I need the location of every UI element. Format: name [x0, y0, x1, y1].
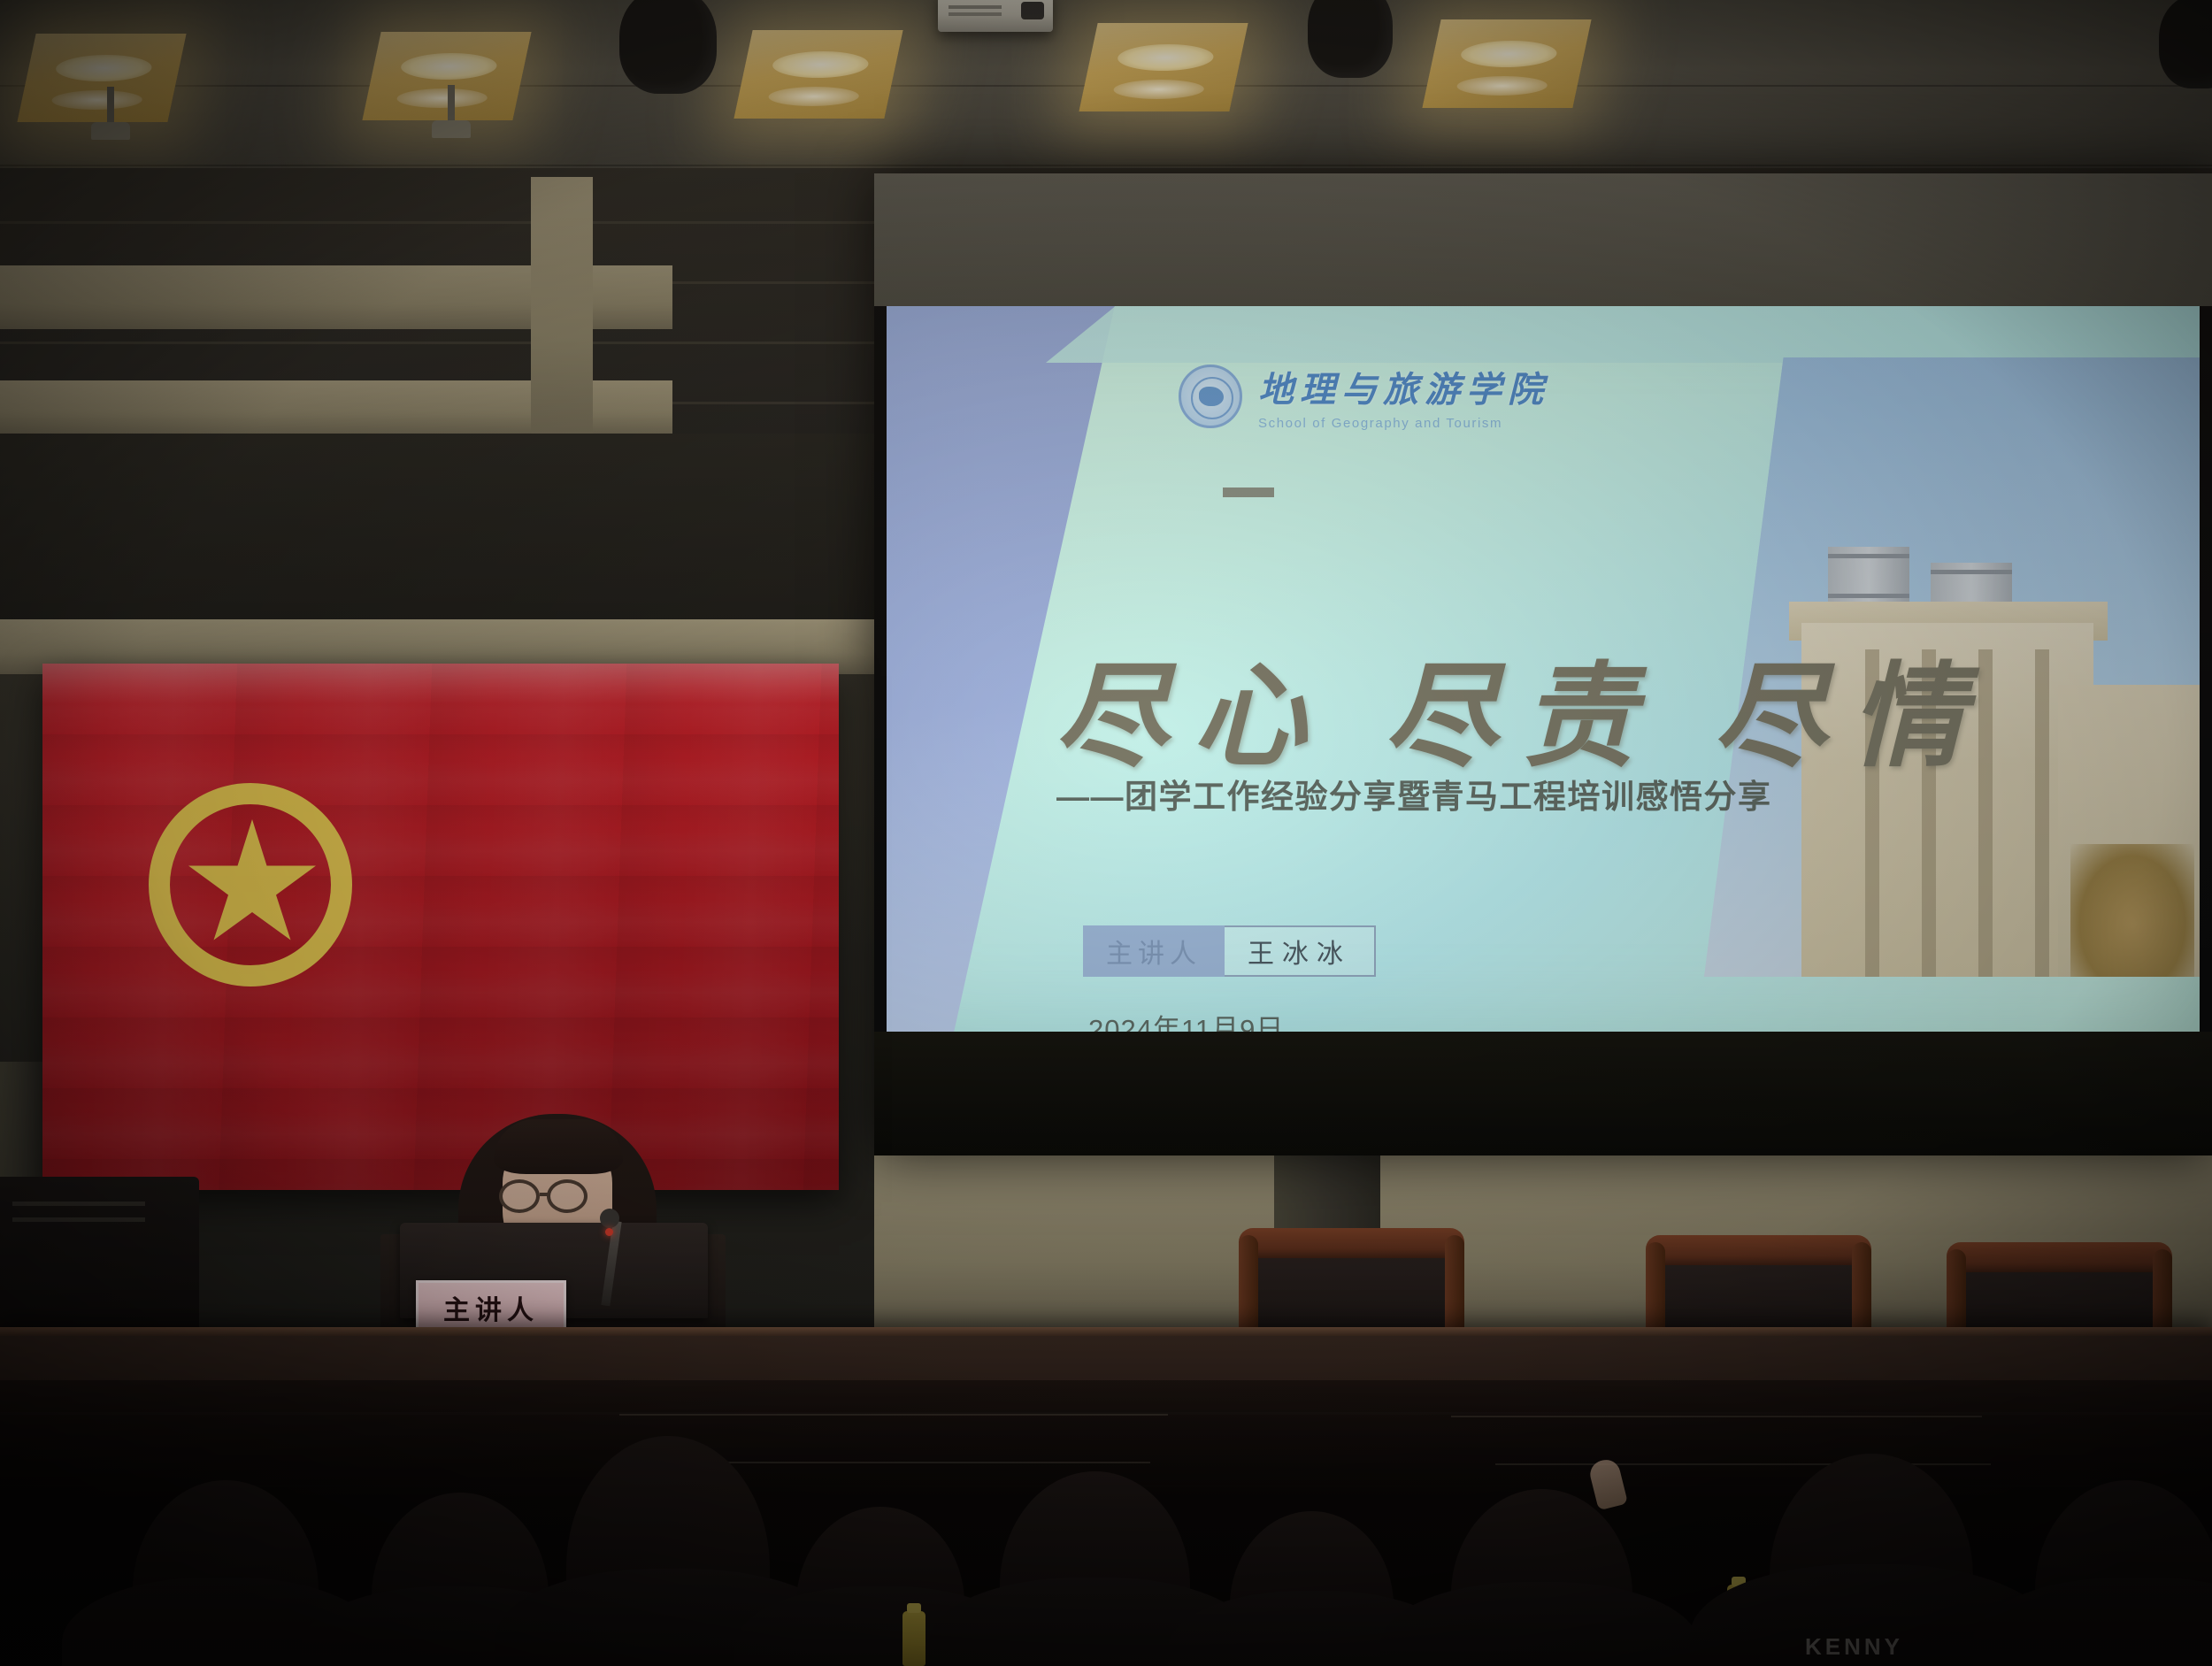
- track-spotlight-icon: [2159, 0, 2212, 88]
- slide-dash-accent: [1223, 488, 1274, 497]
- projector-icon: [938, 0, 1053, 32]
- microphone-led-icon: [605, 1228, 613, 1236]
- recessed-ceiling-light: [1422, 19, 1591, 108]
- audience-shoulders: [1380, 1582, 1699, 1666]
- track-spotlight-icon: [619, 0, 717, 94]
- logo-chinese-name: 地理与旅游学院: [1258, 361, 1549, 412]
- lecture-hall-screenshot: 地理与旅游学院 School of Geography and Tourism …: [0, 0, 2212, 1666]
- wall-beige-pillar: [531, 177, 593, 442]
- recessed-ceiling-light: [362, 32, 531, 120]
- glasses-icon: [499, 1179, 540, 1213]
- school-logo: 地理与旅游学院 School of Geography and Tourism: [1179, 361, 1549, 431]
- globe-seal-icon: [1179, 365, 1242, 428]
- glasses-icon: [547, 1179, 588, 1213]
- ceiling-panel-line: [0, 165, 2212, 166]
- microphone-head-icon: [600, 1209, 619, 1228]
- nameplate-text: 主讲人: [443, 1288, 539, 1327]
- projection-screen: 地理与旅游学院 School of Geography and Tourism …: [874, 173, 2212, 1155]
- screen-bottom-border: [874, 1032, 2212, 1155]
- recessed-ceiling-light: [17, 34, 186, 122]
- slide-title: 尽心 尽责 尽情: [1055, 625, 1989, 788]
- audience-area: KENNY: [0, 1380, 2212, 1666]
- screen-top-border: [874, 173, 2212, 306]
- slide-decor-strip: [1046, 306, 2200, 363]
- slide-date: 2024年11月9日: [1088, 1007, 1284, 1032]
- projected-slide: 地理与旅游学院 School of Geography and Tourism …: [887, 306, 2200, 1032]
- drink-bottle-icon: [902, 1611, 926, 1666]
- presenter-badge: 主讲人 王冰冰: [1083, 925, 1376, 977]
- slide-subtitle: ——团学工作经验分享暨青马工程培训感悟分享: [1056, 770, 1772, 818]
- presenter-label: 主讲人: [1083, 925, 1225, 977]
- youth-league-flag: [42, 664, 839, 1190]
- recessed-ceiling-light: [733, 30, 902, 119]
- jacket-text: KENNY: [1805, 1633, 1903, 1661]
- logo-english-name: School of Geography and Tourism: [1258, 416, 1549, 431]
- track-spotlight-icon: [1308, 0, 1393, 78]
- recessed-ceiling-light: [1079, 23, 1248, 111]
- presenter-name: 王冰冰: [1225, 925, 1376, 977]
